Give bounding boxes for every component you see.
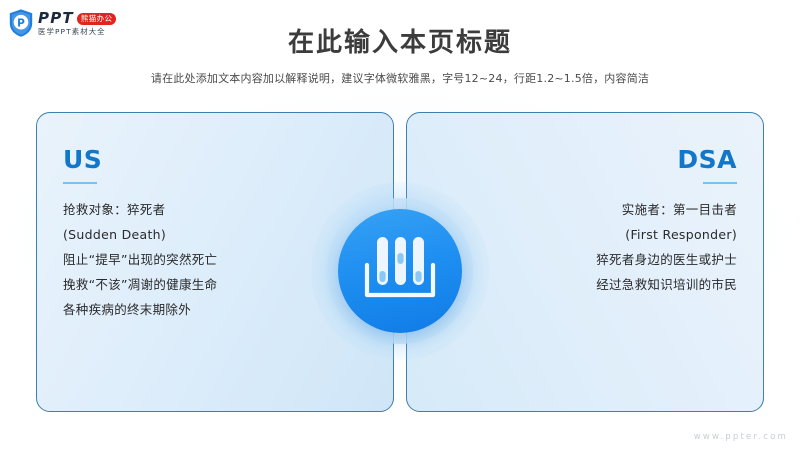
panel-us-content: US 抢救对象：猝死者 (Sudden Death) 阻止“提早”出现的突然死亡… (37, 113, 393, 411)
comparison-panels: US 抢救对象：猝死者 (Sudden Death) 阻止“提早”出现的突然死亡… (36, 112, 764, 412)
slide-canvas: P PPT 熊猫办公 医学PPT素材大全 在此输入本页标题 请在此处添加文本内容… (0, 0, 800, 450)
panel-dsa-content: DSA 实施者：第一目击者 (First Responder) 猝死者身边的医生… (407, 113, 763, 411)
list-item: 抢救对象：猝死者 (63, 197, 367, 222)
list-item: 挽救“不该”凋谢的健康生命 (63, 272, 367, 297)
page-title: 在此输入本页标题 (0, 22, 800, 59)
panel-us-heading: US (63, 147, 102, 172)
site-watermark: www.ppter.com (694, 432, 788, 442)
panel-us-lines: 抢救对象：猝死者 (Sudden Death) 阻止“提早”出现的突然死亡 挽救… (63, 197, 367, 322)
panel-dsa-lines: 实施者：第一目击者 (First Responder) 猝死者身边的医生或护士 … (433, 197, 737, 297)
list-item: (Sudden Death) (63, 222, 367, 247)
panel-dsa-heading: DSA (677, 147, 737, 172)
panel-us-heading-rule (63, 182, 97, 184)
panel-dsa[interactable]: DSA 实施者：第一目击者 (First Responder) 猝死者身边的医生… (406, 112, 764, 412)
list-item: (First Responder) (433, 222, 737, 247)
list-item: 猝死者身边的医生或护士 (433, 247, 737, 272)
list-item: 阻止“提早”出现的突然死亡 (63, 247, 367, 272)
list-item: 各种疾病的终末期除外 (63, 297, 367, 322)
panel-dsa-heading-rule (703, 182, 737, 184)
page-subtitle: 请在此处添加文本内容加以解释说明，建议字体微软雅黑，字号12~24，行距1.2~… (0, 70, 800, 86)
panel-us[interactable]: US 抢救对象：猝死者 (Sudden Death) 阻止“提早”出现的突然死亡… (36, 112, 394, 412)
list-item: 经过急救知识培训的市民 (433, 272, 737, 297)
list-item: 实施者：第一目击者 (433, 197, 737, 222)
